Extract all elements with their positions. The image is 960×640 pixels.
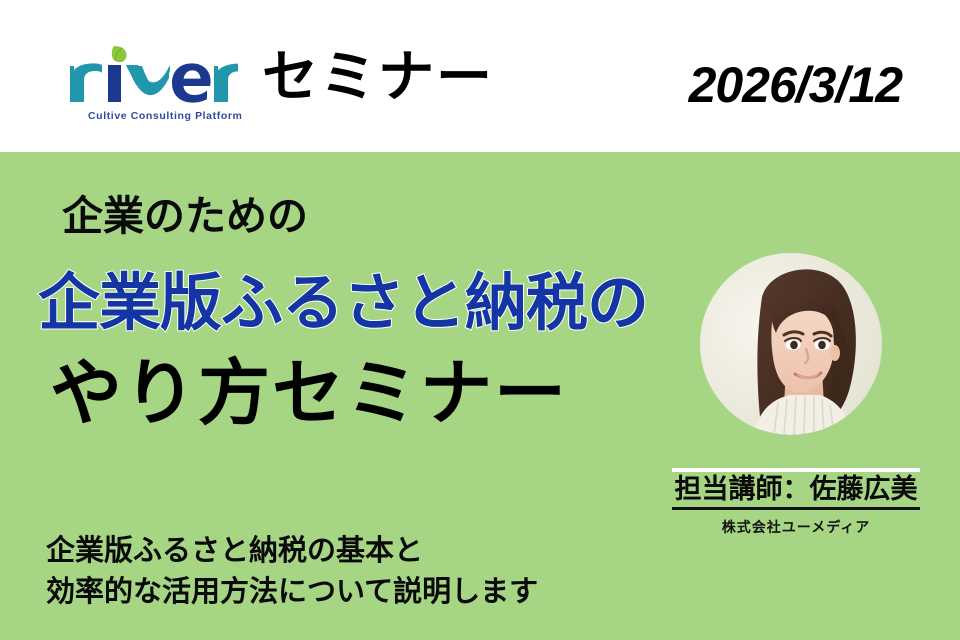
event-date: 2026/3/12 — [689, 56, 902, 114]
headline-secondary: やり方セミナー — [50, 357, 568, 429]
description-line-2: 効率的な活用方法について説明します — [46, 571, 538, 612]
presenter-company: 株式会社ユーメディア — [672, 510, 920, 537]
river-logo: Cultive Consulting Platform — [66, 44, 238, 126]
logo-tagline: Cultive Consulting Platform — [88, 110, 242, 122]
description-line-1: 企業版ふるさと納税の基本と — [46, 530, 538, 571]
presenter-caption: 担当講師：佐藤広美 株式会社ユーメディア — [672, 468, 920, 537]
river-wordmark-icon — [66, 44, 238, 106]
description-block: 企業版ふるさと納税の基本と 効率的な活用方法について説明します — [46, 530, 538, 612]
seminar-poster: Cultive Consulting Platform セミナー 2026/3/… — [0, 0, 960, 640]
presenter-name: 担当講師：佐藤広美 — [672, 472, 920, 507]
headline-primary: 企業版ふるさと納税の — [38, 272, 648, 334]
seminar-label: セミナー — [262, 50, 494, 106]
presenter-photo — [700, 253, 882, 435]
headline-kicker: 企業のための — [62, 196, 308, 237]
poster-header: Cultive Consulting Platform セミナー 2026/3/… — [0, 0, 960, 152]
poster-body: 企業のための 企業版ふるさと納税の やり方セミナー 企業版ふるさと納税の基本と … — [0, 152, 960, 640]
